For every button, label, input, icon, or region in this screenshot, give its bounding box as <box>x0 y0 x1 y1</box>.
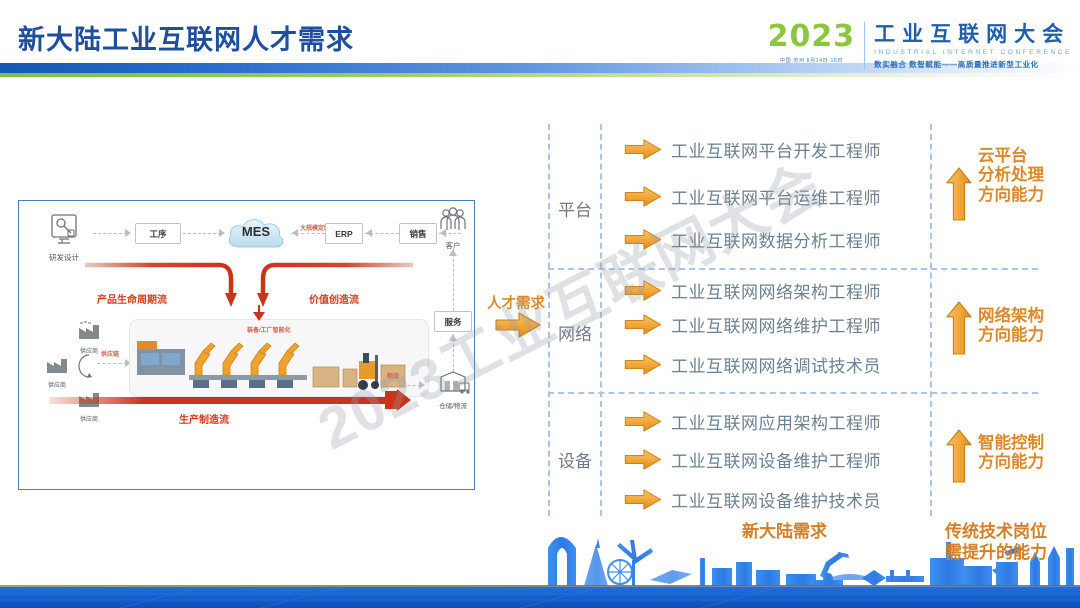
forklift <box>358 353 379 390</box>
job-title: 工业互联网网络维护工程师 <box>671 312 881 337</box>
node-warehouse-label: 仓储/物流 <box>429 400 477 410</box>
manufacturing-flow-arrowhead <box>385 389 411 413</box>
logo-name-block: 工业互联网大会 INDUSTRIAL INTERNET CONFERENCE 数… <box>874 22 1072 70</box>
up-arrow-icon <box>946 428 972 484</box>
node-customer: 客户 <box>435 207 471 251</box>
job-row: 工业互联网平台运维工程师 <box>624 184 881 209</box>
node-service: 服务 <box>434 311 472 332</box>
grid-line-v3 <box>930 124 932 516</box>
capability-label-equipment: 智能控制 方向能力 <box>978 434 1044 473</box>
job-title: 工业互联网数据分析工程师 <box>671 227 881 252</box>
footer-label-right: 传统技术岗位 需提升的能力 <box>945 521 1047 564</box>
flow-label-manufacturing: 生产制造流 <box>179 411 229 426</box>
right-arrow-icon <box>624 186 662 207</box>
manufacturing-flow-bar <box>49 397 389 404</box>
up-arrow-icon <box>946 166 972 222</box>
header-green-gradient-bar <box>0 73 1080 77</box>
right-arrow-icon <box>624 139 662 160</box>
right-arrow-icon <box>624 489 662 510</box>
job-title: 工业互联网网络调试技术员 <box>671 352 881 377</box>
logo-date-line: 中国·苏州 8月14日-16日 <box>768 57 856 64</box>
job-row: 工业互联网网络维护工程师 <box>624 312 881 337</box>
arrow-head-right-4 <box>419 381 426 389</box>
job-row: 工业互联网网络调试技术员 <box>624 352 881 377</box>
talent-demand-label: 人才需求 <box>487 292 545 313</box>
logo-year: 2023 <box>768 22 856 52</box>
job-title: 工业互联网应用架构工程师 <box>671 409 881 434</box>
city-skyline-graphic <box>0 518 1080 608</box>
lifecycle-value-flow-arrows <box>79 257 419 319</box>
label-logistics: 物流 <box>387 371 399 380</box>
flow-label-lifecycle: 产品生命周期流 <box>97 291 167 306</box>
footer-label-left: 新大陆需求 <box>742 521 827 542</box>
logo-divider <box>864 22 865 70</box>
job-title: 工业互联网网络架构工程师 <box>671 278 881 303</box>
job-row: 工业互联网设备维护技术员 <box>624 487 881 512</box>
connector-customer-service <box>453 249 454 311</box>
grid-line-v2 <box>600 124 602 516</box>
capability-label-platform: 云平台 分析处理 方向能力 <box>978 147 1044 205</box>
capability-label-network: 网络架构 方向能力 <box>978 307 1044 346</box>
job-row: 工业互联网平台开发工程师 <box>624 137 881 162</box>
rd-design-icon <box>37 213 91 247</box>
grid-line-h2 <box>548 392 1038 394</box>
flow-label-value: 价值创造流 <box>309 291 359 306</box>
arrow-head-up-2 <box>449 334 457 341</box>
arrow-head-right-1 <box>125 229 132 237</box>
label-supply-chain: 供应链 <box>101 349 119 358</box>
up-arrow-icon <box>946 300 972 356</box>
supplier-loop-icon <box>69 349 95 383</box>
right-arrow-icon <box>624 449 662 470</box>
value-chain-diagram: 研发设计 工序 MES 大规模定制 ERP 销售 <box>18 200 475 490</box>
connector-factory-warehouse <box>381 385 421 386</box>
page-title: 新大陆工业互联网人才需求 <box>18 18 354 57</box>
node-erp: ERP <box>325 223 363 244</box>
warehouse-truck-icon <box>429 371 477 395</box>
node-supplier-3-label: 供应商 <box>71 414 107 423</box>
node-sales: 销售 <box>399 223 437 244</box>
arrow-head-up-1 <box>449 249 457 256</box>
arrow-head-left-2 <box>365 229 372 237</box>
logo-year-block: 2023 中国·苏州 8月14日-16日 <box>768 22 865 64</box>
category-label-equipment: 设备 <box>558 447 592 472</box>
right-arrow-icon <box>624 229 662 250</box>
right-arrow-icon <box>624 314 662 335</box>
job-row: 工业互联网网络架构工程师 <box>624 278 881 303</box>
slide-canvas: 新大陆工业互联网人才需求 2023 中国·苏州 8月14日-16日 工业互联网大… <box>0 0 1080 608</box>
job-title: 工业互联网平台开发工程师 <box>671 137 881 162</box>
arrow-down-to-factory <box>253 305 265 321</box>
connector-process-mes <box>183 233 221 234</box>
node-mes: MES <box>225 211 287 251</box>
job-row: 工业互联网数据分析工程师 <box>624 227 881 252</box>
logo-name-cn: 工业互联网大会 <box>874 24 1072 45</box>
category-label-platform: 平台 <box>558 196 592 221</box>
conference-logo: 2023 中国·苏州 8月14日-16日 工业互联网大会 INDUSTRIAL … <box>768 22 1072 70</box>
connector-rd-process <box>93 233 127 234</box>
job-title: 工业互联网设备维护技术员 <box>671 487 881 512</box>
grid-line-v1 <box>548 124 550 516</box>
right-arrow-icon <box>624 411 662 432</box>
job-title: 工业互联网平台运维工程师 <box>671 184 881 209</box>
category-label-network: 网络 <box>558 320 592 345</box>
node-rd: 研发设计 <box>37 213 91 263</box>
arrow-head-left-1 <box>291 229 298 237</box>
right-arrow-icon <box>624 280 662 301</box>
node-process: 工序 <box>135 223 181 244</box>
job-row: 工业互联网应用架构工程师 <box>624 409 881 434</box>
connector-supplier-factory <box>97 363 127 364</box>
logo-slogan: 数实融合 数智赋能——高质量推进新型工业化 <box>874 59 1072 70</box>
grid-line-h1 <box>548 268 1038 270</box>
talent-demand-arrow-icon <box>495 312 541 338</box>
node-warehouse: 仓储/物流 <box>429 371 477 410</box>
customer-people-icon <box>435 207 471 235</box>
node-supplier-3: 供应商 <box>71 387 107 423</box>
job-title: 工业互联网设备维护工程师 <box>671 447 881 472</box>
right-arrow-icon <box>624 354 662 375</box>
factory-icon-1 <box>71 319 107 341</box>
job-row: 工业互联网设备维护工程师 <box>624 447 881 472</box>
logo-name-en: INDUSTRIAL INTERNET CONFERENCE <box>874 49 1072 56</box>
